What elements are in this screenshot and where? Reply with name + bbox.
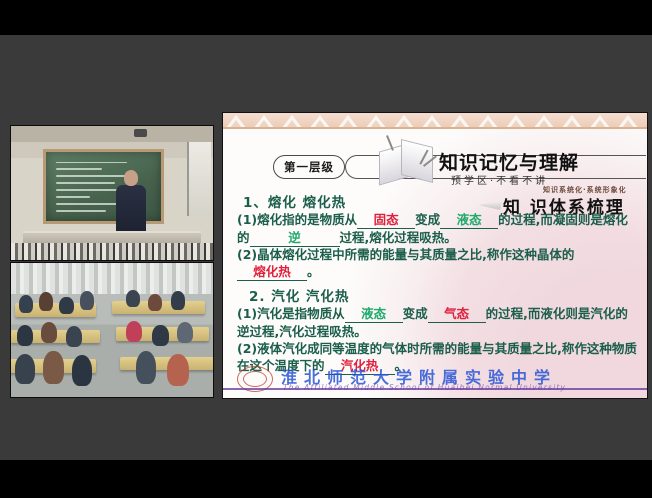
body-text: 晶体熔化过程中所需的能量与其质量之比,称作这种晶体的 [257, 247, 574, 262]
letterbox-bottom [0, 460, 652, 498]
answer-blank: 逆 [250, 229, 340, 247]
paragraph-1-1: (1)熔化指的是物质从固态变成液态的过程,而凝固则是熔化的逆过程,熔化过程吸热。 [237, 211, 637, 247]
letterbox-top [0, 0, 652, 35]
body-text: 过程,熔化过程吸热。 [340, 230, 457, 245]
body-text: 。 [307, 264, 320, 279]
window-blinds [11, 263, 213, 294]
decorative-top-banner [223, 113, 647, 129]
projection-screen [187, 142, 211, 216]
item-number: (1) [237, 306, 257, 321]
slide-title: 知识记忆与理解 [439, 148, 579, 175]
footer-rule [223, 388, 647, 390]
video-teacher-camera[interactable] [10, 125, 214, 261]
body-text: 熔化指的是物质从 [257, 212, 357, 227]
banner-arrow-icon [478, 201, 502, 210]
slide-header: 第一层级 知识记忆与理解 预学区·不看不讲 [223, 129, 647, 185]
foreground-student-row [11, 243, 213, 260]
answer-blank: 气态 [428, 305, 486, 323]
chalkboard [43, 149, 164, 225]
section-2-heading: 2. 汽化 汽化热 [249, 285, 349, 305]
slide-background: 第一层级 知识记忆与理解 预学区·不看不讲 1、熔化 熔化热 知识系统化·系统形… [223, 113, 647, 398]
answer-blank: 液态 [440, 211, 498, 229]
answer-blank: 熔化热 [237, 263, 307, 281]
slide-footer-watermark: 淮北师范大学附属实验中学 The Affiliated Middle Schoo… [223, 366, 647, 392]
section-1-heading: 1、熔化 熔化热 [243, 191, 346, 211]
paragraph-1-2: (2)晶体熔化过程中所需的能量与其质量之比,称作这种晶体的熔化热。 [237, 246, 637, 281]
body-text: 汽化是指物质从 [257, 306, 345, 321]
item-number: (1) [237, 212, 257, 227]
classroom-wide-scene [11, 263, 213, 397]
projector-icon [134, 129, 147, 137]
presentation-slide[interactable]: 第一层级 知识记忆与理解 预学区·不看不讲 1、熔化 熔化热 知识系统化·系统形… [222, 112, 648, 399]
open-book-icon [373, 137, 435, 185]
item-number: (2) [237, 341, 257, 356]
item-number: (2) [237, 247, 257, 262]
video-classroom-camera[interactable] [10, 262, 214, 398]
level-badge: 第一层级 [273, 155, 345, 179]
answer-blank: 液态 [345, 305, 403, 323]
body-text: 变成 [415, 212, 440, 227]
screen-root: 第一层级 知识记忆与理解 预学区·不看不讲 1、熔化 熔化热 知识系统化·系统形… [0, 0, 652, 498]
paragraph-2-1: (1)汽化是指物质从液态变成气态的过程,而液化则是汽化的逆过程,汽化过程吸热。 [237, 305, 637, 340]
slide-subtitle: 预学区·不看不讲 [451, 172, 548, 187]
body-text: 变成 [403, 306, 428, 321]
answer-blank: 固态 [357, 211, 415, 229]
classroom-front-scene [11, 126, 213, 260]
ceiling [11, 126, 213, 142]
